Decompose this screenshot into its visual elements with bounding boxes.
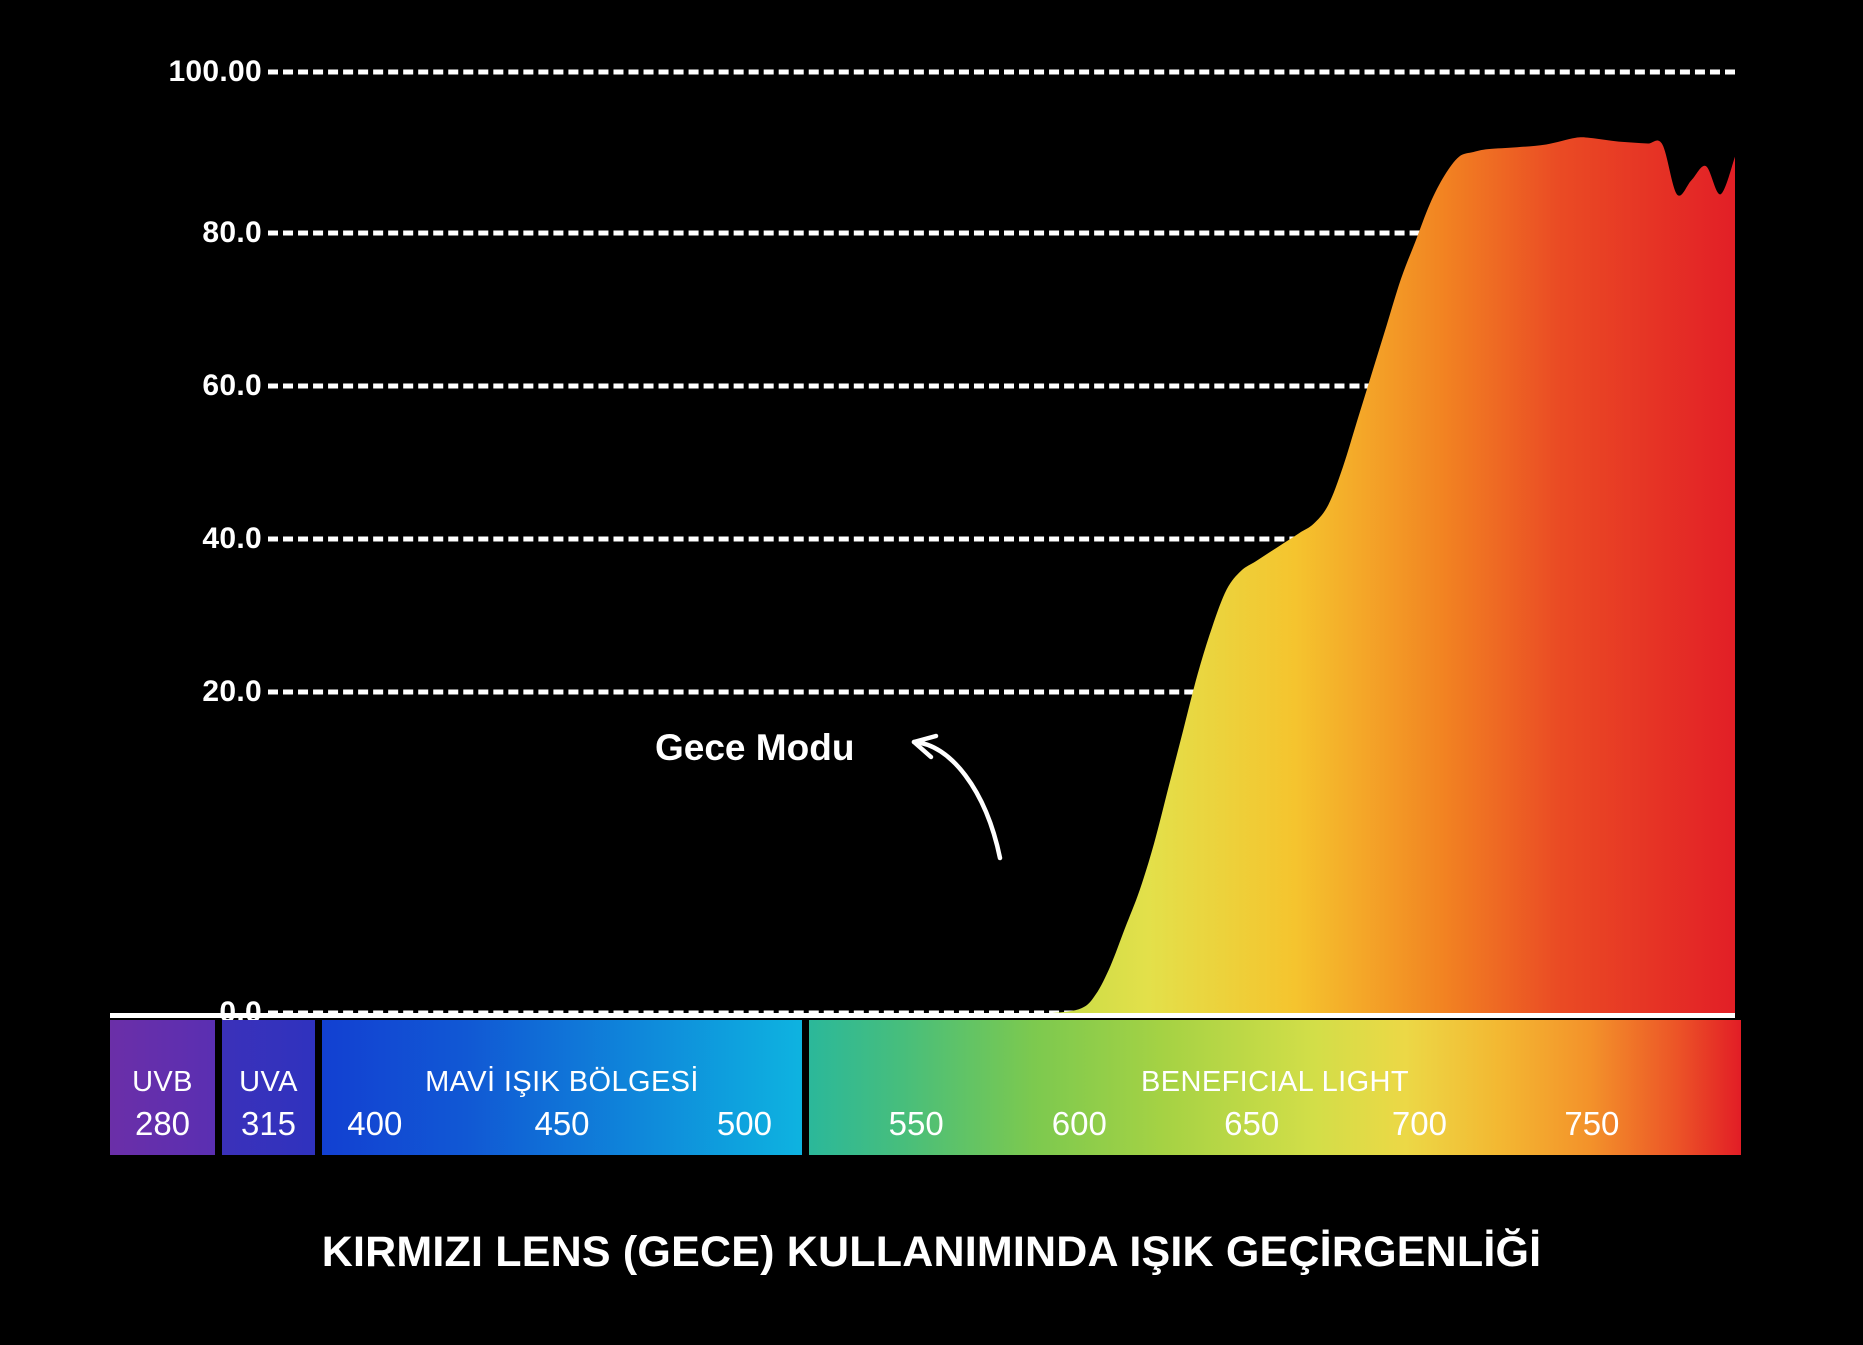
y-tick-100: 100.00 [168,55,262,89]
spectrum-segment-blue-ticks: 400 450 500 [322,1020,802,1155]
y-tick-80: 80.0 [202,216,262,250]
spectrum-segment-uvb[interactable]: UVB 280 [110,1020,215,1155]
spectrum-segment-uva[interactable]: UVA 315 [222,1020,315,1155]
annotation-arrow-icon [900,730,1040,870]
spectrum-segment-beneficial[interactable]: BENEFICIAL LIGHT 550 600 650 700 750 [809,1020,1741,1155]
annotation-label: Gece Modu [655,727,854,769]
spectrum-tick-750: 750 [1564,1105,1619,1143]
chart-root: 100.00 80.0 60.0 40.0 20.0 0.0 [0,0,1863,1345]
spectrum-tick-600: 600 [1052,1105,1107,1143]
page-title: KIRMIZI LENS (GECE) KULLANIMINDA IŞIK GE… [0,1228,1863,1277]
spectrum-segment-beneficial-ticks: 550 600 650 700 750 [809,1020,1741,1155]
spectrum-tick-700: 700 [1392,1105,1447,1143]
spectrum-segment-uvb-ticks: 280 [110,1020,215,1155]
spectrum-segment-blue[interactable]: MAVİ IŞIK BÖLGESİ 400 450 500 [322,1020,802,1155]
y-tick-20: 20.0 [202,675,262,709]
transmission-curve [268,60,1735,1015]
y-tick-40: 40.0 [202,522,262,556]
spectrum-segment-uva-ticks: 315 [222,1020,315,1155]
y-tick-60: 60.0 [202,369,262,403]
axis-baseline [110,1013,1735,1018]
spectrum-tick-650: 650 [1224,1105,1279,1143]
spectrum-tick-500: 500 [717,1105,772,1143]
y-axis-labels: 100.00 80.0 60.0 40.0 20.0 0.0 [0,60,262,1015]
spectrum-tick-400: 400 [347,1105,402,1143]
spectrum-tick-280: 280 [135,1105,190,1143]
spectrum-tick-450: 450 [534,1105,589,1143]
plot-area [268,60,1735,1015]
spectrum-tick-315: 315 [241,1105,296,1143]
spectrum-bar: UVB 280 UVA 315 MAVİ IŞIK BÖLGESİ 400 45… [110,1020,1741,1155]
spectrum-tick-550: 550 [889,1105,944,1143]
